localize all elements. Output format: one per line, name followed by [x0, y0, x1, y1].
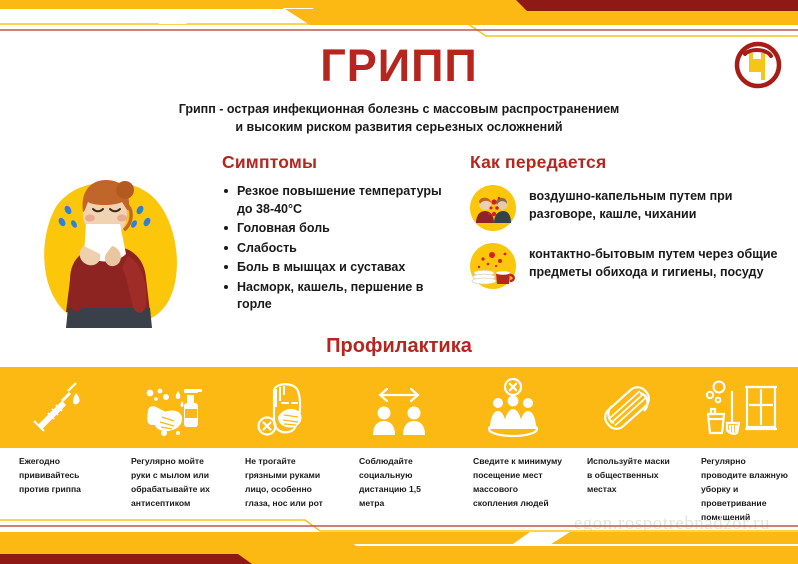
dispenser-label	[185, 409, 197, 418]
illustration-svg	[22, 162, 187, 337]
person-left	[373, 406, 395, 435]
prevention-heading: Профилактика	[0, 335, 798, 358]
x-mark	[264, 422, 271, 429]
page-subtitle: Грипп - острая инфекционная болезнь с ма…	[139, 100, 659, 136]
people-talking-icon	[470, 185, 516, 231]
symptoms-section: Симптомы Резкое повышение температуры до…	[222, 152, 457, 316]
list-item: контактно-бытовым путем через общие пред…	[470, 243, 780, 289]
dishes-cup-icon-svg	[470, 243, 516, 289]
list-item: Насморк, кашель, першение в горле	[237, 279, 457, 314]
notouchface-icon-svg	[254, 377, 316, 439]
symptoms-list: Резкое повышение температуры до 38-40°C …	[222, 183, 457, 314]
page-title: ГРИПП	[0, 40, 798, 92]
prevention-label: Не трогайте грязными руками лицо, особен…	[228, 455, 334, 511]
handwash-icon-svg	[138, 377, 204, 439]
prevention-label: Используйте маски в общественных местах	[570, 455, 676, 497]
transmission-item-text: воздушно-капельным путем при разговоре, …	[529, 185, 780, 224]
no-touch-face-icon	[228, 367, 342, 448]
illustration-blush-right	[117, 215, 127, 222]
hand-washing-soap-icon	[114, 367, 228, 448]
person-right	[403, 406, 425, 435]
transmission-heading: Как передается	[470, 152, 780, 173]
list-item: Резкое повышение температуры до 38-40°C	[237, 183, 457, 218]
prevention-label: Ежегодно прививайтесь против гриппа	[0, 455, 106, 497]
subtitle-line-1: Грипп - острая инфекционная болезнь с ма…	[179, 102, 619, 116]
dishes-cup-icon	[470, 243, 516, 289]
mask-pleats	[608, 390, 647, 426]
avoidcrowds-icon-svg	[480, 377, 546, 439]
syringe-vaccine-icon	[0, 367, 114, 448]
transmission-section: Как передается воз	[470, 152, 780, 289]
cleaningairing-icon-svg	[705, 377, 777, 439]
list-item: Слабость	[237, 240, 457, 258]
subtitle-line-2: и высоким риском развития серьезных осло…	[235, 120, 562, 134]
soap-dispenser	[184, 389, 202, 427]
x-mark	[510, 383, 516, 389]
list-item: Боль в мышцах и суставах	[237, 259, 457, 277]
top-darkred-edge	[516, 0, 798, 11]
prevention-label: Сведите к минимуму посещение мест массов…	[456, 455, 562, 511]
open-window	[745, 387, 777, 429]
syringe-icon-svg	[26, 377, 88, 439]
symptoms-heading: Симптомы	[222, 152, 457, 173]
bottom-darkred-wedge	[0, 554, 252, 564]
plates-stack	[472, 270, 496, 284]
cup-rim	[496, 271, 510, 275]
bottom-decoration-svg	[0, 514, 798, 564]
list-item: Головная боль	[237, 220, 457, 238]
illustration-blush-left	[85, 215, 95, 222]
sneezing-woman-illustration	[22, 162, 187, 337]
prevention-label: Соблюдайте социальную дистанцию 1,5 метр…	[342, 455, 448, 511]
distance-arrow	[380, 389, 418, 401]
facemask-icon-svg	[596, 377, 658, 439]
prevention-icons-row	[0, 367, 798, 448]
mop	[727, 391, 739, 434]
illustration-hair-bun	[116, 181, 134, 199]
transmission-item-text: контактно-бытовым путем через общие пред…	[529, 243, 780, 282]
bubbles	[707, 381, 725, 402]
bucket	[708, 409, 724, 433]
list-item: воздушно-капельным путем при разговоре, …	[470, 185, 780, 231]
social-distance-icon	[342, 367, 456, 448]
icon-circle-bg	[470, 185, 516, 231]
cleaning-airing-icon	[684, 367, 798, 448]
face-mask-icon	[570, 367, 684, 448]
influenza-infographic-poster: ГРИПП Грипп - острая инфекционная болезн…	[0, 0, 798, 564]
avoid-crowds-icon	[456, 367, 570, 448]
socialdistance-icon-svg	[365, 377, 433, 439]
people-talking-icon-svg	[470, 185, 516, 231]
bottom-decoration-band	[0, 514, 798, 564]
prevention-label: Регулярно мойте руки с мылом или обрабат…	[114, 455, 220, 511]
